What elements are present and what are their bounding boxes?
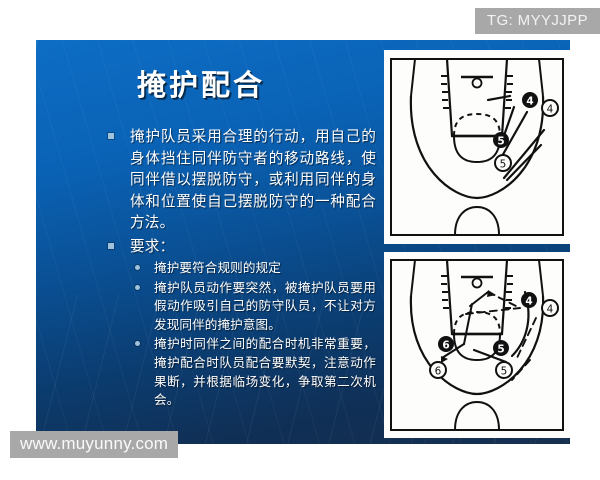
bullet-level2: 掩护要符合规则的规定 bbox=[130, 259, 376, 278]
svg-text:5: 5 bbox=[500, 159, 507, 171]
site-watermark: www.muyunny.com bbox=[10, 431, 178, 458]
dot-bullet-icon bbox=[135, 265, 140, 270]
court-diagram-bottom: 4 5 6 4 5 6 bbox=[384, 252, 570, 438]
svg-text:4: 4 bbox=[525, 296, 532, 308]
bullet-text: 掩护时同伴之间的配合时机非常重要，掩护配合时队员配合要默契，注意动作果断，并根据… bbox=[154, 336, 376, 407]
svg-text:5: 5 bbox=[501, 366, 508, 378]
square-bullet-icon bbox=[108, 243, 114, 249]
square-bullet-icon bbox=[108, 133, 114, 139]
court-diagram-top: 4 5 4 5 bbox=[384, 50, 570, 244]
svg-text:6: 6 bbox=[442, 340, 449, 352]
bullet-text: 要求： bbox=[130, 238, 174, 255]
slide-body-text: 掩护队员采用合理的行动，用自己的身体挡住同伴防守者的移动路线，使同伴借以摆脱防守… bbox=[106, 126, 376, 411]
bullet-level1: 掩护队员采用合理的行动，用自己的身体挡住同伴防守者的移动路线，使同伴借以摆脱防守… bbox=[106, 126, 376, 234]
bullet-text: 掩护队员动作要突然，被掩护队员要用假动作吸引自己的防守队员，不让对方发现同伴的掩… bbox=[154, 280, 376, 332]
svg-text:4: 4 bbox=[526, 96, 533, 108]
telegram-watermark: TG: MYYJJPP bbox=[475, 8, 600, 34]
dot-bullet-icon bbox=[135, 285, 140, 290]
screenshot-root: 掩护配合 掩护队员采用合理的行动，用自己的身体挡住同伴防守者的移动路线，使同伴借… bbox=[0, 0, 600, 480]
presentation-slide: 掩护配合 掩护队员采用合理的行动，用自己的身体挡住同伴防守者的移动路线，使同伴借… bbox=[36, 40, 570, 444]
svg-text:4: 4 bbox=[547, 104, 554, 116]
bullet-level2: 掩护时同伴之间的配合时机非常重要，掩护配合时队员配合要默契，注意动作果断，并根据… bbox=[130, 335, 376, 409]
svg-text:5: 5 bbox=[497, 344, 504, 356]
bullet-text: 掩护要符合规则的规定 bbox=[154, 260, 281, 275]
dot-bullet-icon bbox=[135, 341, 140, 346]
svg-text:6: 6 bbox=[435, 366, 442, 378]
page-title: 掩护配合 bbox=[36, 62, 366, 104]
bullet-text: 掩护队员采用合理的行动，用自己的身体挡住同伴防守者的移动路线，使同伴借以摆脱防守… bbox=[130, 128, 376, 231]
bullet-level1: 要求： bbox=[106, 236, 376, 258]
svg-text:5: 5 bbox=[497, 136, 504, 148]
svg-text:4: 4 bbox=[547, 304, 554, 316]
bullet-level2: 掩护队员动作要突然，被掩护队员要用假动作吸引自己的防守队员，不让对方发现同伴的掩… bbox=[130, 279, 376, 335]
